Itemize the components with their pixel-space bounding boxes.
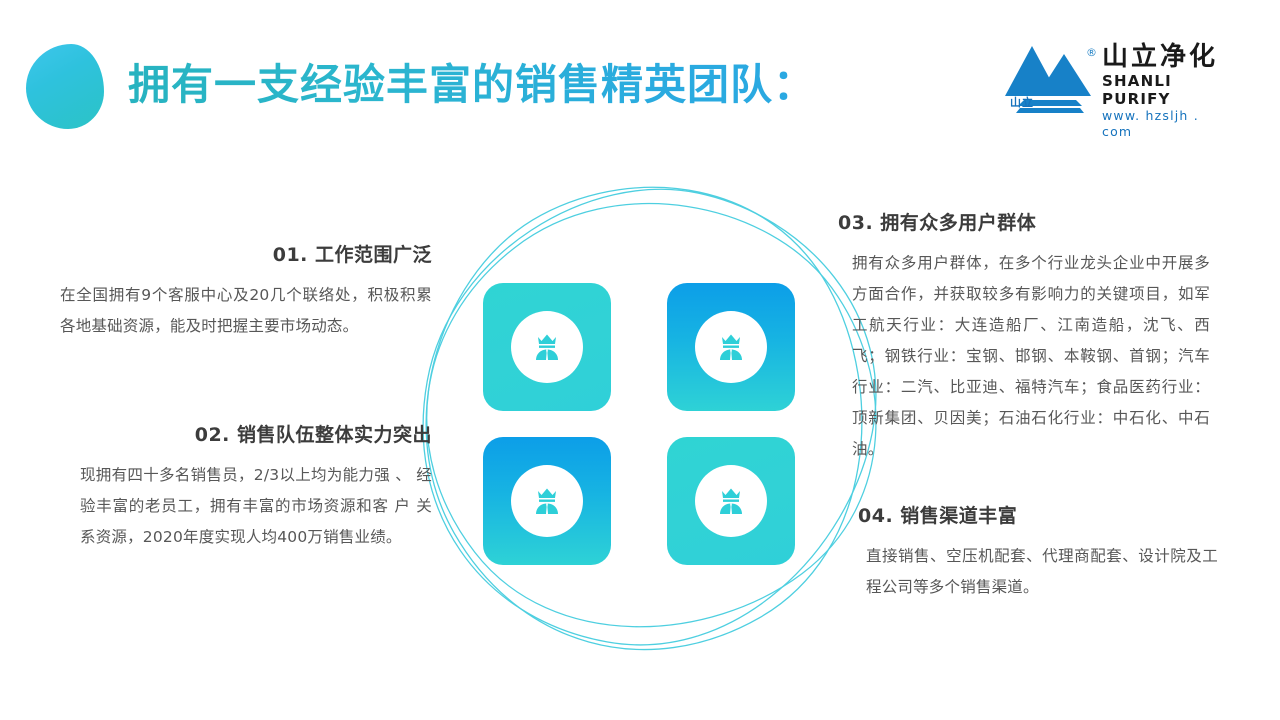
company-logo: ® 山立 山立净化 SHANLI PURIFY www. hzsljh . co… [1002,40,1222,114]
feature-body-04: 直接销售、空压机配套、代理商配套、设计院及工程公司等多个销售渠道。 [858,541,1218,603]
feature-body-01: 在全国拥有9个客服中心及20几个联络处，积极积累各地基础资源，能及时把握主要市场… [60,280,432,342]
logo-company-en: SHANLI PURIFY [1102,72,1222,108]
header-decorative-blob [26,44,104,129]
crowned-person-icon [527,481,567,521]
feature-body-03: 拥有众多用户群体，在多个行业龙头企业中开展多方面合作，并获取较多有影响力的关键项… [838,248,1210,465]
icon-card-3[interactable] [483,437,611,565]
icon-card-1[interactable] [483,283,611,411]
feature-heading-03: 03. 拥有众多用户群体 [838,210,1210,236]
logo-company-cn: 山立净化 [1102,42,1222,72]
crowned-person-icon [711,481,751,521]
icon-circle-3 [511,465,583,537]
icon-circle-1 [511,311,583,383]
feature-heading-02: 02. 销售队伍整体实力突出 [60,422,432,448]
icon-card-2[interactable] [667,283,795,411]
crowned-person-icon [527,327,567,367]
feature-block-02: 02. 销售队伍整体实力突出 现拥有四十多名销售员，2/3以上均为能力强 、 经… [60,422,432,553]
slide-root: 拥有一支经验丰富的销售精英团队： ® 山立 山立净化 SHANLI PURIFY… [0,0,1280,720]
icon-card-4[interactable] [667,437,795,565]
logo-text-group: 山立净化 SHANLI PURIFY www. hzsljh . com [1102,42,1222,140]
crowned-person-icon [711,327,751,367]
feature-body-02: 现拥有四十多名销售员，2/3以上均为能力强 、 经验丰富的老员工，拥有丰富的市场… [60,460,432,553]
icon-circle-2 [695,311,767,383]
feature-heading-01: 01. 工作范围广泛 [60,242,432,268]
logo-mark-label: 山立 [1010,94,1034,110]
registered-trademark-icon: ® [1086,46,1097,59]
page-title: 拥有一支经验丰富的销售精英团队： [128,57,816,113]
icon-card-grid [483,283,795,565]
feature-block-03: 03. 拥有众多用户群体 拥有众多用户群体，在多个行业龙头企业中开展多方面合作，… [838,210,1210,465]
icon-circle-4 [695,465,767,537]
logo-website-url: www. hzsljh . com [1102,108,1222,140]
feature-block-04: 04. 销售渠道丰富 直接销售、空压机配套、代理商配套、设计院及工程公司等多个销… [858,503,1218,603]
feature-heading-04: 04. 销售渠道丰富 [858,503,1218,529]
feature-block-01: 01. 工作范围广泛 在全国拥有9个客服中心及20几个联络处，积极积累各地基础资… [60,242,432,342]
